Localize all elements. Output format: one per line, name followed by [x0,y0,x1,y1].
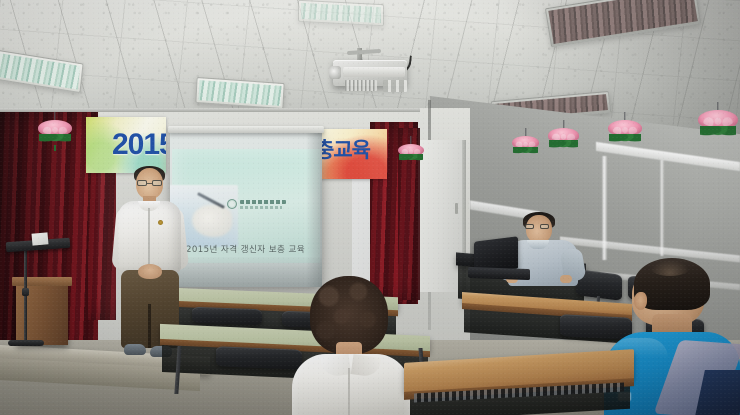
banner-left: 2015 [86,117,166,173]
slide-logo-wordmark [240,200,286,204]
attendee-front-woman [292,276,410,415]
lotus-lantern [548,128,579,152]
laptop-keyboard-base[interactable] [468,267,530,280]
lantern-leaves [513,147,538,157]
presenter-shoe-left [124,344,146,355]
lantern-leaves [700,126,737,141]
lantern-leaves [609,134,640,146]
projector-arm [347,49,381,55]
presenter-hands [138,264,162,279]
slide-title-text: 2015년 자격 갱신자 보충 교육 [186,243,305,255]
eyeglasses-icon [525,224,549,229]
window-light-strip [660,160,664,256]
attendee-front-blouse [292,354,410,415]
projector-control-panel [383,80,407,92]
projector-top-panel [343,67,405,77]
presenter-badge [158,220,163,225]
projection-screen-housing [168,126,324,133]
banner-right: 충교육 [313,129,387,179]
ceiling-projector [327,48,411,88]
screen-shading-right [306,133,322,287]
door-handle[interactable] [455,203,458,214]
banner-korean-text: 충교육 [315,134,370,164]
laptop-computer[interactable] [468,239,532,281]
photo-scene: 2015 충교육 2015년 자격 갱신자 보충 교육 [0,0,740,415]
chair-back[interactable] [216,346,302,370]
eyeglasses-icon [137,180,162,186]
music-stand-card [32,232,49,245]
attendee-front-seam [348,368,350,415]
music-stand-knob[interactable] [22,288,29,296]
slide-hand-graphic [192,205,232,237]
lantern-tassel [54,145,56,151]
podium-top [12,277,72,286]
lotus-lantern [698,110,738,141]
banner-year-text: 2015 [112,128,166,162]
lotus-lantern [608,120,642,146]
projector-vents [345,80,377,91]
lotus-lantern [38,120,72,146]
projector-lens [329,66,341,79]
slide-emblem-icon [227,199,237,209]
presenter-trouser-seam [148,304,151,348]
music-stand-base [8,340,44,346]
operator-hand-right [560,275,572,283]
presenter-shirt-placket [148,208,150,268]
music-stand-pole [24,248,27,344]
projected-slide: 2015년 자격 갱신자 보충 교육 [172,149,320,263]
lotus-lantern [512,136,539,157]
projection-screen: 2015년 자격 갱신자 보충 교육 [170,133,322,287]
lantern-leaves [399,154,423,164]
attendee-right-ear [634,292,647,310]
lantern-leaves [549,140,578,152]
chair-back[interactable] [192,307,262,325]
attendee-right-hair-highlight [650,260,690,276]
projector-body [333,60,407,86]
slide-logo-subtext [240,206,282,209]
lotus-lantern [398,144,424,164]
ceiling-light-fixture [298,0,384,26]
